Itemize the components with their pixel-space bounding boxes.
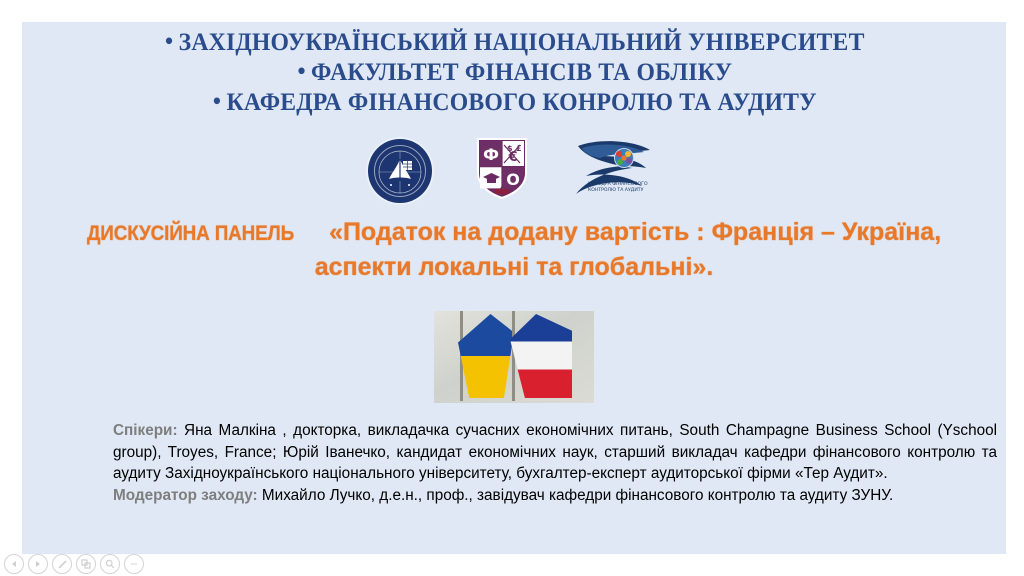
faculty-shield-logo: Ф € $ £ О [474,135,530,206]
seal-disc [368,139,432,203]
department-swoosh-logo: КАФЕДРА ФІНАНСОВОГО КОНТРОЛЮ ТА АУДИТУ [572,136,660,205]
header-line-1: •ЗАХІДНОУКРАЇНСЬКИЙ НАЦІОНАЛЬНИЙ УНІВЕРС… [56,27,971,57]
speakers-paragraph: Спікери: Яна Малкіна , докторка, виклада… [113,420,997,485]
svg-text:О: О [506,170,520,189]
header-line-2: •ФАКУЛЬТЕТ ФІНАНСІВ ТА ОБЛІКУ [56,57,971,87]
discussion-panel-title: ДИСКУСІЙНА ПАНЕЛЬ «Податок на додану вар… [67,215,961,284]
play-slideshow-button[interactable] [28,554,48,574]
svg-text:Ф: Ф [483,145,499,164]
seal-emblem-icon [377,149,423,195]
more-icon [129,559,139,569]
swoosh-caption-2: КОНТРОЛЮ ТА АУДИТУ [588,187,644,193]
header-line-2-text: ФАКУЛЬТЕТ ФІНАНСІВ ТА ОБЛІКУ [311,57,732,86]
previous-icon [10,560,18,568]
moderator-paragraph: Модератор заходу: Михайло Лучко, д.е.н.,… [113,485,997,507]
viewer-toolbar[interactable] [4,554,144,574]
bullet-icon: • [163,31,174,53]
presentation-viewer: •ЗАХІДНОУКРАЇНСЬКИЙ НАЦІОНАЛЬНИЙ УНІВЕРС… [0,0,1024,576]
slide-overview-button[interactable] [76,554,96,574]
flags-image [434,311,594,403]
ukraine-flag-icon [458,314,514,398]
university-seal-logo [368,139,432,203]
header-line-3-text: КАФЕДРА ФІНАНСОВОГО КОНРОЛЮ ТА АУДИТУ [227,87,817,116]
zoom-button[interactable] [100,554,120,574]
play-icon [34,560,42,568]
bullet-icon: • [296,61,307,83]
logo-row: Ф € $ £ О [22,135,1006,206]
header-line-3: •КАФЕДРА ФІНАНСОВОГО КОНРОЛЮ ТА АУДИТУ [56,87,971,117]
moderator-label: Модератор заходу: [113,487,258,504]
speakers-text: Яна Малкіна , докторка, викладачка сучас… [113,422,997,482]
slide-canvas: •ЗАХІДНОУКРАЇНСЬКИЙ НАЦІОНАЛЬНИЙ УНІВЕРС… [22,22,1006,554]
grid-icon [81,559,91,569]
more-options-button[interactable] [124,554,144,574]
speakers-block: Спікери: Яна Малкіна , докторка, виклада… [113,420,997,506]
pen-icon [57,559,68,570]
search-icon [105,559,115,569]
moderator-text: Михайло Лучко, д.е.н., проф., завідувач … [258,487,894,504]
france-flag-icon [510,314,572,398]
shield-icon: Ф € $ £ О [474,135,530,201]
slide-header: •ЗАХІДНОУКРАЇНСЬКИЙ НАЦІОНАЛЬНИЙ УНІВЕРС… [22,27,1006,117]
swoosh-icon: КАФЕДРА ФІНАНСОВОГО КОНТРОЛЮ ТА АУДИТУ [572,136,660,200]
pen-annotate-button[interactable] [52,554,72,574]
header-line-1-text: ЗАХІДНОУКРАЇНСЬКИЙ НАЦІОНАЛЬНИЙ УНІВЕРСИ… [179,27,865,56]
bullet-icon: • [211,91,222,113]
discussion-panel-label: ДИСКУСІЙНА ПАНЕЛЬ [87,216,294,250]
swoosh-caption-1: КАФЕДРА ФІНАНСОВОГО [588,181,648,187]
previous-slide-button[interactable] [4,554,24,574]
speakers-label: Спікери: [113,422,178,439]
discussion-panel-topic: «Податок на додану вартість : Франція – … [315,218,941,281]
